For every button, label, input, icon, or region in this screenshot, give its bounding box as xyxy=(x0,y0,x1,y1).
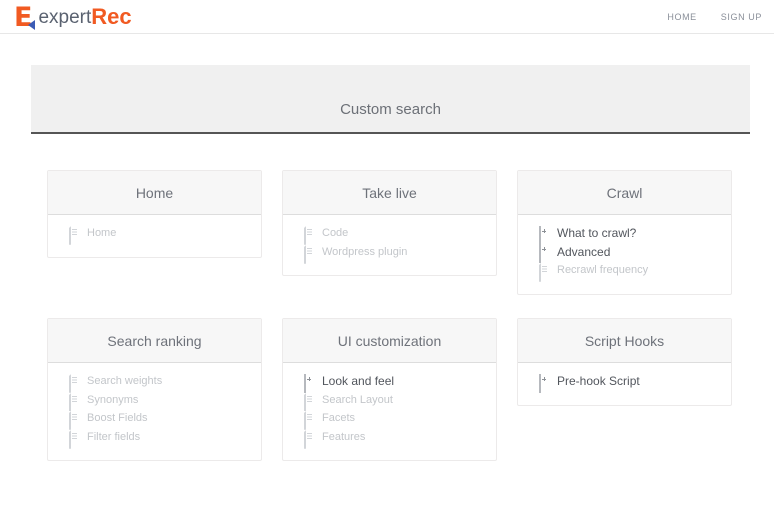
list-item-filter-fields[interactable]: Filter fields xyxy=(48,428,261,447)
document-icon xyxy=(303,431,315,443)
card-script-hooks-header: Script Hooks xyxy=(518,319,731,363)
brand-logo[interactable]: E expert Rec xyxy=(14,3,132,31)
list-item-label: Code xyxy=(322,227,348,239)
list-item-label: Look and feel xyxy=(322,375,394,387)
logo-text-rec: Rec xyxy=(91,6,131,28)
list-item-label: Synonyms xyxy=(87,394,138,406)
list-item-advanced[interactable]: Advanced xyxy=(518,243,731,262)
document-icon xyxy=(303,246,315,258)
logo-text-expert: expert xyxy=(38,8,91,27)
list-item-features[interactable]: Features xyxy=(283,428,496,447)
plus-square-icon[interactable] xyxy=(538,227,550,239)
list-item-label: Filter fields xyxy=(87,431,140,443)
list-item-wordpress-plugin[interactable]: Wordpress plugin xyxy=(283,243,496,262)
document-icon xyxy=(68,431,80,443)
card-crawl[interactable]: Crawl What to crawl? Advanced Recrawl fr… xyxy=(517,170,732,295)
card-search-ranking-header: Search ranking xyxy=(48,319,261,363)
card-take-live-body: Code Wordpress plugin xyxy=(283,215,496,275)
list-item-label: Search weights xyxy=(87,375,162,387)
card-search-ranking-title: Search ranking xyxy=(107,333,201,349)
document-icon xyxy=(68,375,80,387)
document-icon xyxy=(303,412,315,424)
list-item-look-and-feel[interactable]: Look and feel xyxy=(283,372,496,391)
list-item-synonyms[interactable]: Synonyms xyxy=(48,391,261,410)
card-ui-customization-body: Look and feel Search Layout Facets Featu… xyxy=(283,363,496,460)
list-item-label: Boost Fields xyxy=(87,412,148,424)
document-icon xyxy=(68,227,80,239)
list-item-label: Home xyxy=(87,227,116,239)
card-home-body: Home xyxy=(48,215,261,257)
list-item-boost-fields[interactable]: Boost Fields xyxy=(48,409,261,428)
list-item-label: Wordpress plugin xyxy=(322,246,407,258)
plus-square-icon[interactable] xyxy=(538,246,550,258)
card-home-header: Home xyxy=(48,171,261,215)
page-title-panel: Custom search xyxy=(31,65,750,134)
card-search-ranking[interactable]: Search ranking Search weights Synonyms B… xyxy=(47,318,262,461)
card-home-title: Home xyxy=(136,185,173,201)
list-item-label: What to crawl? xyxy=(557,227,636,239)
card-take-live-title: Take live xyxy=(362,185,416,201)
card-crawl-header: Crawl xyxy=(518,171,731,215)
card-home[interactable]: Home Home xyxy=(47,170,262,258)
list-item-label: Features xyxy=(322,431,365,443)
card-take-live[interactable]: Take live Code Wordpress plugin xyxy=(282,170,497,276)
document-icon xyxy=(303,394,315,406)
nav-link-sign-up[interactable]: SIGN UP xyxy=(719,8,764,26)
list-item-pre-hook-script[interactable]: Pre-hook Script xyxy=(518,372,731,391)
card-ui-customization[interactable]: UI customization Look and feel Search La… xyxy=(282,318,497,461)
card-take-live-header: Take live xyxy=(283,171,496,215)
card-grid: Home Home Take live Code xyxy=(0,170,774,466)
card-row-2: Search ranking Search weights Synonyms B… xyxy=(0,318,774,466)
list-item-home[interactable]: Home xyxy=(48,224,261,243)
card-ui-customization-header: UI customization xyxy=(283,319,496,363)
list-item-facets[interactable]: Facets xyxy=(283,409,496,428)
list-item-search-layout[interactable]: Search Layout xyxy=(283,391,496,410)
list-item-label: Advanced xyxy=(557,246,610,258)
card-crawl-title: Crawl xyxy=(607,185,643,201)
list-item-label: Search Layout xyxy=(322,394,393,406)
list-item-search-weights[interactable]: Search weights xyxy=(48,372,261,391)
card-row-1: Home Home Take live Code xyxy=(0,170,774,318)
list-item-label: Recrawl frequency xyxy=(557,264,648,276)
document-icon xyxy=(538,264,550,276)
nav-links: HOME SIGN UP xyxy=(665,0,764,34)
card-script-hooks[interactable]: Script Hooks Pre-hook Script xyxy=(517,318,732,406)
list-item-recrawl-frequency[interactable]: Recrawl frequency xyxy=(518,261,731,280)
top-navbar: E expert Rec HOME SIGN UP xyxy=(0,0,774,34)
document-icon xyxy=(68,394,80,406)
card-ui-customization-title: UI customization xyxy=(338,333,441,349)
plus-square-icon[interactable] xyxy=(538,375,550,387)
card-search-ranking-body: Search weights Synonyms Boost Fields Fil… xyxy=(48,363,261,460)
plus-square-icon[interactable] xyxy=(303,375,315,387)
nav-link-home[interactable]: HOME xyxy=(665,8,698,26)
page-title: Custom search xyxy=(340,101,441,132)
document-icon xyxy=(68,412,80,424)
document-icon xyxy=(303,227,315,239)
card-script-hooks-title: Script Hooks xyxy=(585,333,664,349)
card-script-hooks-body: Pre-hook Script xyxy=(518,363,731,405)
list-item-label: Facets xyxy=(322,412,355,424)
list-item-code[interactable]: Code xyxy=(283,224,496,243)
list-item-what-to-crawl[interactable]: What to crawl? xyxy=(518,224,731,243)
logo-e-mark: E xyxy=(14,4,31,31)
list-item-label: Pre-hook Script xyxy=(557,375,640,387)
card-crawl-body: What to crawl? Advanced Recrawl frequenc… xyxy=(518,215,731,294)
